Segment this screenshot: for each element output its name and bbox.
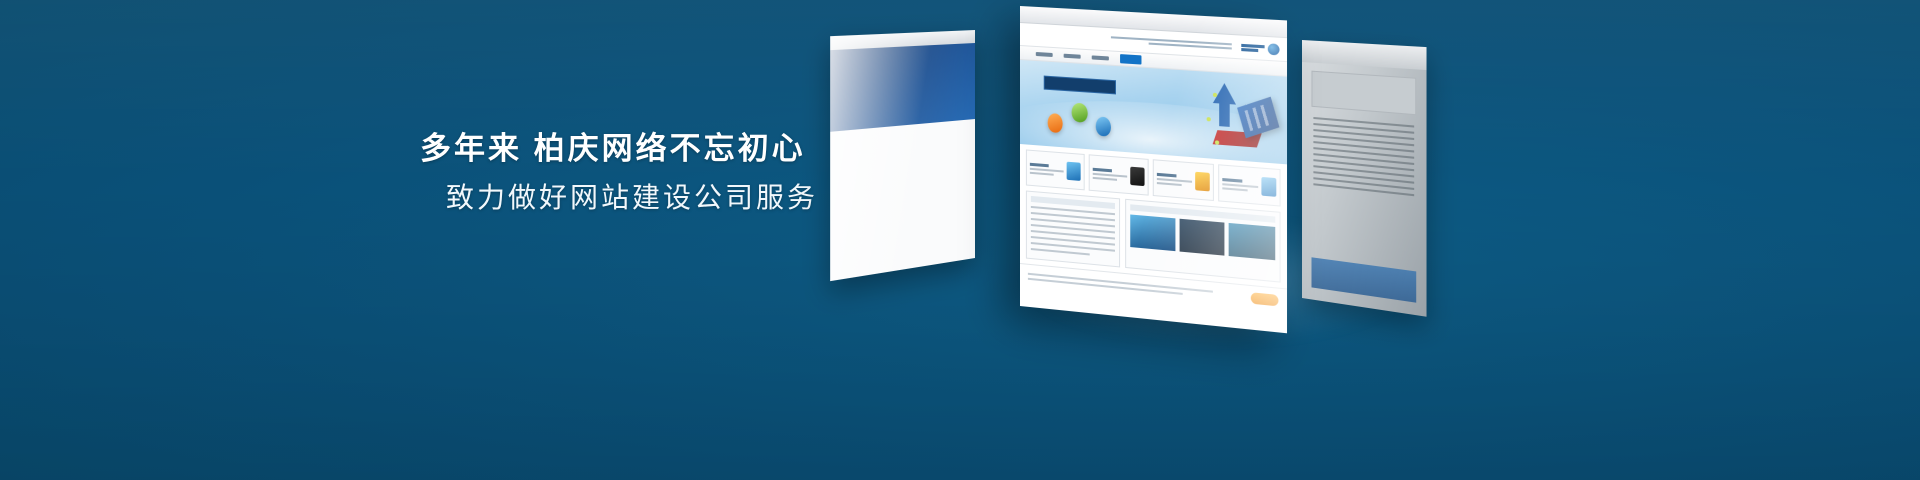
service-card[interactable]: [1026, 149, 1085, 190]
service-card[interactable]: [1089, 154, 1149, 195]
hero-banner: 多年来 柏庆网络不忘初心 致力做好网站建设公司服务: [0, 0, 1920, 480]
hero-orb-green-icon: [1072, 103, 1088, 123]
center-screenshot-panel: [1020, 6, 1287, 333]
case-thumbnail[interactable]: [1179, 219, 1225, 256]
right-footer-block: [1311, 257, 1416, 302]
footer-cta-button[interactable]: [1251, 292, 1279, 306]
right-screenshot-panel: [1302, 40, 1427, 317]
site-logo: [1241, 41, 1279, 55]
service-card-icon: [1195, 172, 1210, 192]
right-banner-box: [1311, 71, 1416, 116]
headline-line-1: 多年来 柏庆网络不忘初心: [420, 128, 1080, 170]
hero-orb-orange-icon: [1048, 113, 1063, 133]
hero-dot-icon: [1207, 117, 1211, 121]
case-thumbnail[interactable]: [1130, 214, 1175, 251]
logo-swirl-icon: [1268, 43, 1280, 55]
case-thumbnail[interactable]: [1229, 223, 1275, 260]
left-screenshot-panel: [830, 30, 975, 281]
nav-item-active[interactable]: [1120, 54, 1141, 64]
website-mockup-cluster: [1010, 6, 1440, 336]
right-text-lines: [1313, 117, 1414, 196]
nav-item[interactable]: [1064, 53, 1081, 58]
hero-dot-icon: [1215, 140, 1219, 144]
headline-block: 多年来 柏庆网络不忘初心 致力做好网站建设公司服务: [420, 128, 1080, 216]
right-toolbar: [1302, 40, 1427, 70]
hero-dot-icon: [1213, 93, 1217, 97]
nav-item[interactable]: [1092, 55, 1109, 60]
service-card-icon: [1261, 177, 1276, 197]
news-list[interactable]: [1026, 190, 1120, 267]
left-panel-fade: [830, 30, 975, 281]
service-card[interactable]: [1218, 164, 1280, 206]
hero-title-label: [1044, 76, 1116, 95]
case-thumbnail-list: [1125, 199, 1280, 283]
service-card-icon: [1067, 162, 1081, 181]
hero-orb-blue-icon: [1096, 116, 1111, 136]
service-card-icon: [1130, 167, 1144, 186]
logo-wordmark: [1241, 43, 1264, 52]
nav-item[interactable]: [1036, 51, 1053, 56]
service-card[interactable]: [1153, 159, 1214, 201]
